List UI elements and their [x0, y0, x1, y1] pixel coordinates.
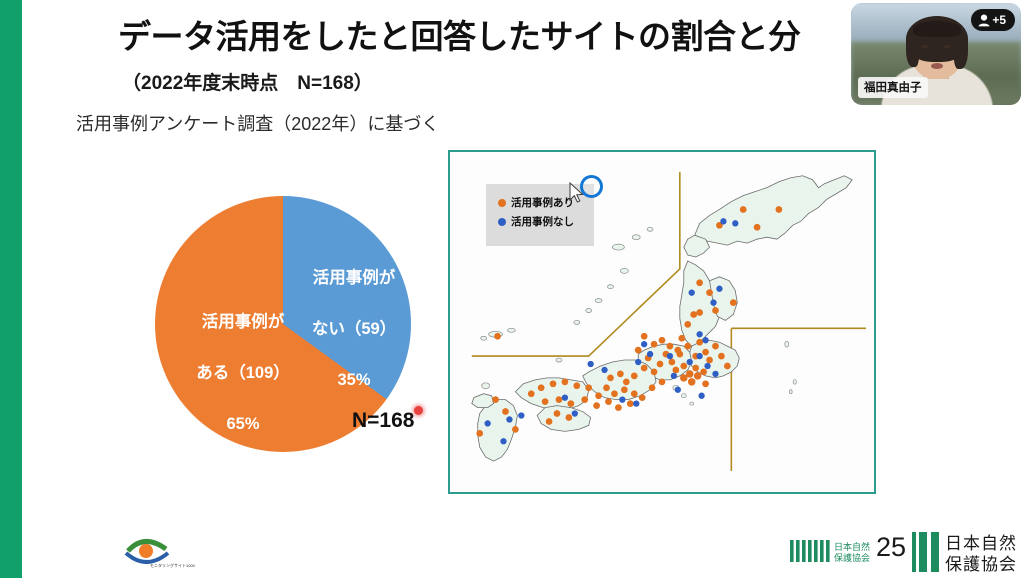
legend-label-with-case: 活用事例あり — [511, 195, 574, 210]
nacsj-main-logo-icon: 日本自然 保護協会 — [912, 529, 1020, 575]
video-person-eye-left — [921, 45, 928, 48]
participant-name-label: 福田真由子 — [858, 77, 928, 98]
video-person-eye-right — [943, 45, 950, 48]
page-subtitle: （2022年度末時点 N=168） — [122, 68, 373, 95]
slide-screen: データ活用をしたと回答したサイトの割合と分 （2022年度末時点 N=168） … — [0, 0, 1024, 578]
video-person-hair-left — [906, 33, 919, 67]
nacsj-small-line2: 保護協会 — [834, 552, 870, 563]
nacsj-main-line2: 保護協会 — [945, 555, 1017, 574]
japan-distribution-map: 活用事例あり 活用事例なし — [448, 150, 876, 494]
page-number: 25 — [876, 532, 906, 563]
video-person-fringe — [913, 21, 961, 37]
nacsj-small-logo-icon: 日本自然 保護協会 — [790, 538, 882, 564]
annotation-dot — [414, 406, 423, 415]
map-region-shikoku — [537, 406, 590, 432]
pie-label-percent: 65% — [226, 415, 259, 433]
legend-dot-orange-icon — [498, 199, 506, 207]
map-region-hokkaido — [695, 176, 853, 245]
left-accent-bar — [0, 0, 22, 578]
pie-slice-label-without-case: 活用事例が ない（59） 35% — [293, 240, 415, 393]
legend-item-without-case: 活用事例なし — [498, 214, 594, 229]
legend-label-without-case: 活用事例なし — [511, 214, 574, 229]
video-person-mouth — [931, 63, 943, 69]
pie-label-line2: ある（109） — [196, 364, 290, 382]
legend-dot-blue-icon — [498, 218, 506, 226]
person-icon — [978, 14, 990, 27]
pie-label-line2: ない（59） — [312, 320, 396, 338]
nacsj-small-line1: 日本自然 — [834, 541, 870, 552]
video-person-hair-right — [954, 33, 968, 69]
page-title: データ活用をしたと回答したサイトの割合と分 — [118, 18, 898, 56]
pie-slice-label-with-case: 活用事例が ある（109） 65% — [175, 284, 311, 437]
source-note: 活用事例アンケート調査（2022年）に基づく — [76, 110, 439, 136]
nacsj-main-line1: 日本自然 — [945, 534, 1017, 553]
extra-participants-count: +5 — [992, 13, 1006, 27]
ms1000-logo-caption: モニタリングサイト1000 — [150, 562, 196, 568]
extra-participants-badge[interactable]: +5 — [971, 9, 1015, 31]
participant-video-tile[interactable]: 福田真由子 +5 — [851, 3, 1021, 105]
pie-total-label: N=168 — [352, 409, 414, 433]
pie-label-line1: 活用事例が — [202, 313, 285, 331]
pie-label-line1: 活用事例が — [313, 269, 396, 287]
monitoring-site-1000-logo-icon: モニタリングサイト1000 — [120, 529, 196, 573]
mouse-cursor-icon — [569, 182, 584, 203]
map-region-kyushu — [478, 400, 518, 461]
map-region-kyushu-north — [472, 394, 494, 408]
pie-label-percent: 35% — [337, 371, 370, 389]
